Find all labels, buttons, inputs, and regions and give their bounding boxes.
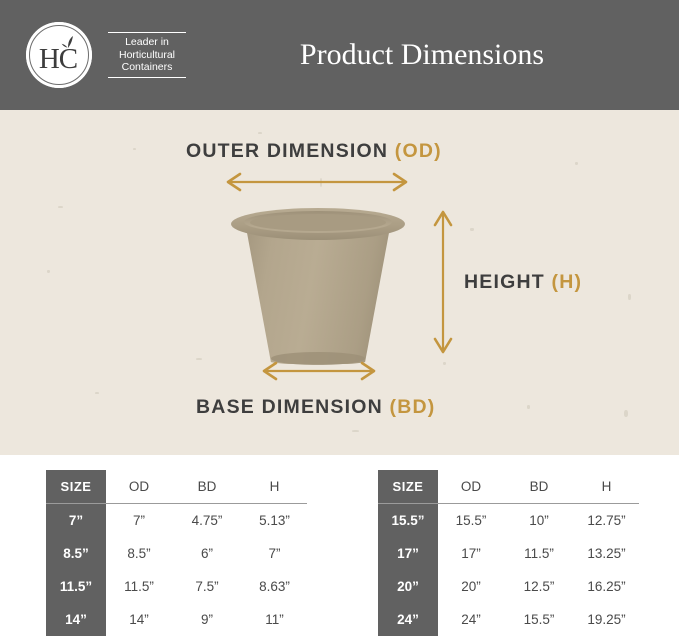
tagline-line-3: Containers (108, 61, 186, 74)
texture-speck (47, 270, 50, 273)
table-row: 14” 14” 9” 11” (46, 603, 307, 636)
outer-dimension-arrow-icon (222, 172, 412, 192)
table-row: 7” 7” 4.75” 5.13” (46, 504, 307, 538)
table-row: 17” 17” 11.5” 13.25” (378, 537, 639, 570)
height-label: HEIGHT (H) (464, 271, 582, 294)
texture-speck (258, 132, 262, 134)
column-header-od: OD (106, 470, 172, 504)
cell-h: 19.25” (574, 603, 639, 636)
texture-speck (470, 228, 474, 231)
base-dimension-label: BASE DIMENSION (BD) (196, 396, 435, 419)
table-row: 24” 24” 15.5” 19.25” (378, 603, 639, 636)
column-header-bd: BD (504, 470, 574, 504)
column-header-h: H (574, 470, 639, 504)
texture-speck (95, 392, 99, 394)
brand-logo: HC Leader in Horticultural Containers (26, 22, 186, 88)
size-table: SIZE OD BD H 7” 7” 4.75” 5.13” 8.5” 8.5”… (46, 470, 307, 636)
cell-h: 12.75” (574, 504, 639, 538)
cell-h: 11” (242, 603, 307, 636)
texture-speck (527, 405, 530, 409)
planter-pot-illustration (231, 200, 405, 375)
cell-h: 7” (242, 537, 307, 570)
tagline-line-2: Horticultural (108, 49, 186, 62)
table-header-row: SIZE OD BD H (46, 470, 307, 504)
hc-logo-mark: HC (26, 22, 92, 88)
height-tag: (H) (552, 271, 583, 293)
texture-speck (624, 410, 628, 417)
cell-od: 8.5” (106, 537, 172, 570)
height-arrow-icon (432, 206, 454, 358)
table-header-row: SIZE OD BD H (378, 470, 639, 504)
column-header-od: OD (438, 470, 504, 504)
cell-size: 7” (46, 504, 106, 538)
cell-h: 8.63” (242, 570, 307, 603)
cell-bd: 7.5” (172, 570, 242, 603)
table-row: 15.5” 15.5” 10” 12.75” (378, 504, 639, 538)
size-table: SIZE OD BD H 15.5” 15.5” 10” 12.75” 17” … (378, 470, 639, 636)
cell-bd: 15.5” (504, 603, 574, 636)
cell-size: 15.5” (378, 504, 438, 538)
table-row: 11.5” 11.5” 7.5” 8.63” (46, 570, 307, 603)
cell-size: 20” (378, 570, 438, 603)
pot-body (245, 222, 391, 364)
texture-speck (628, 294, 631, 300)
cell-bd: 11.5” (504, 537, 574, 570)
cell-od: 11.5” (106, 570, 172, 603)
texture-speck (443, 362, 446, 365)
cell-od: 24” (438, 603, 504, 636)
cell-bd: 10” (504, 504, 574, 538)
cell-od: 15.5” (438, 504, 504, 538)
outer-dimension-tag: (OD) (395, 140, 442, 162)
base-dimension-arrow-icon (258, 361, 380, 381)
outer-dimension-text: OUTER DIMENSION (186, 140, 395, 162)
cell-bd: 4.75” (172, 504, 242, 538)
cell-h: 13.25” (574, 537, 639, 570)
height-text: HEIGHT (464, 271, 552, 293)
texture-speck (58, 206, 63, 208)
texture-speck (133, 148, 136, 150)
dimension-diagram: OUTER DIMENSION (OD) HEIGHT (H) BASE DIM… (0, 110, 679, 455)
cell-size: 24” (378, 603, 438, 636)
base-dimension-text: BASE DIMENSION (196, 396, 390, 418)
brand-tagline: Leader in Horticultural Containers (108, 32, 186, 78)
page-header: HC Leader in Horticultural Containers (0, 0, 679, 110)
cell-h: 16.25” (574, 570, 639, 603)
texture-speck (196, 358, 202, 360)
cell-bd: 9” (172, 603, 242, 636)
texture-speck (352, 430, 359, 432)
pot-opening (250, 214, 386, 231)
size-table-small: SIZE OD BD H 7” 7” 4.75” 5.13” 8.5” 8.5”… (46, 470, 307, 636)
column-header-bd: BD (172, 470, 242, 504)
outer-dimension-label: OUTER DIMENSION (OD) (186, 140, 442, 163)
tagline-line-1: Leader in (108, 36, 186, 49)
table-row: 8.5” 8.5” 6” 7” (46, 537, 307, 570)
cell-od: 20” (438, 570, 504, 603)
cell-od: 17” (438, 537, 504, 570)
base-dimension-tag: (BD) (390, 396, 436, 418)
cell-od: 14” (106, 603, 172, 636)
texture-speck (575, 162, 578, 165)
cell-bd: 12.5” (504, 570, 574, 603)
cell-od: 7” (106, 504, 172, 538)
cell-h: 5.13” (242, 504, 307, 538)
cell-size: 8.5” (46, 537, 106, 570)
cell-size: 17” (378, 537, 438, 570)
column-header-size: SIZE (46, 470, 106, 504)
size-table-large: SIZE OD BD H 15.5” 15.5” 10” 12.75” 17” … (378, 470, 639, 636)
cell-size: 11.5” (46, 570, 106, 603)
cell-bd: 6” (172, 537, 242, 570)
table-row: 20” 20” 12.5” 16.25” (378, 570, 639, 603)
leaf-icon (59, 35, 77, 49)
cell-size: 14” (46, 603, 106, 636)
column-header-h: H (242, 470, 307, 504)
column-header-size: SIZE (378, 470, 438, 504)
